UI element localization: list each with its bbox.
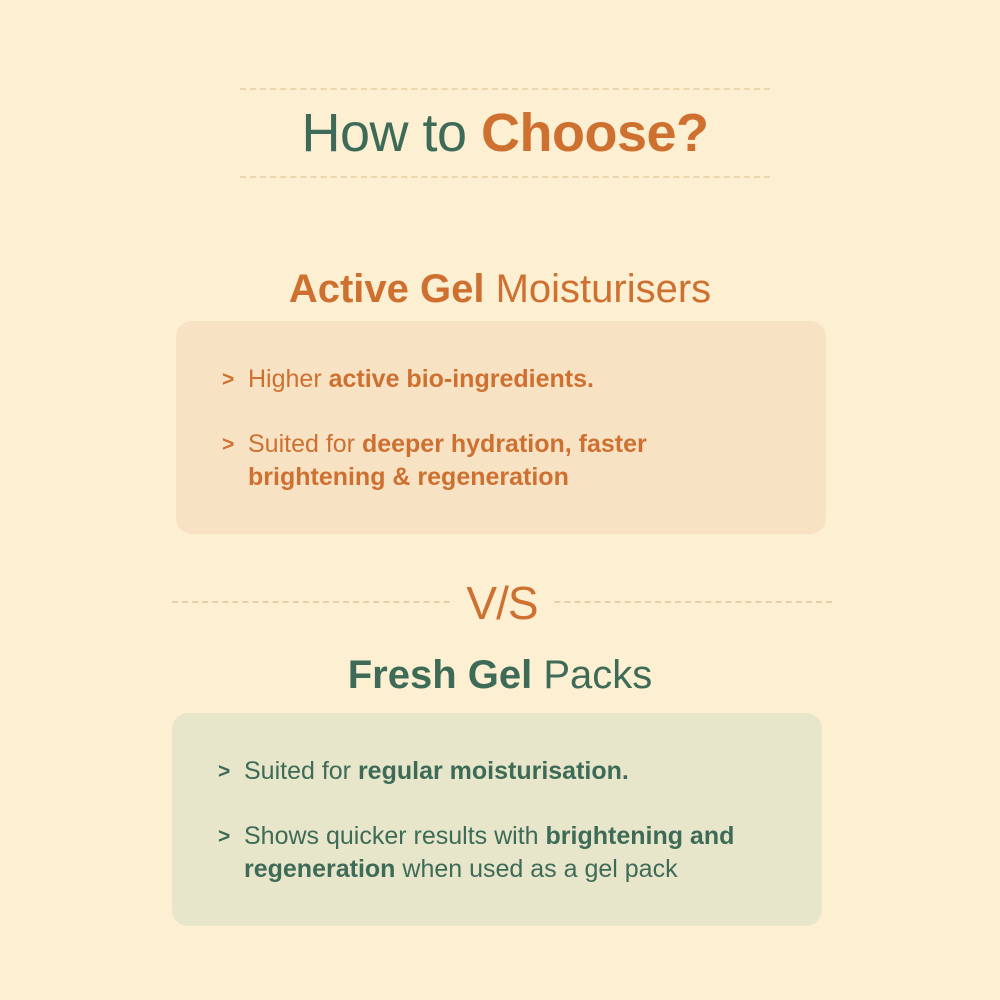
list-item-text-bold: active bio-ingredients. [329, 365, 594, 393]
header-block: How to Choose? [240, 88, 770, 178]
header-rule-bottom [240, 176, 770, 178]
chevron-right-icon: > [218, 755, 244, 788]
list-item-text-light: Suited for [244, 757, 358, 785]
page-title-part-2: Choose? [481, 103, 709, 163]
versus-divider: V/S [172, 575, 832, 631]
section-heading-active-gel-bold: Active Gel [289, 267, 485, 311]
section-heading-fresh-gel-light: Packs [532, 653, 652, 697]
infographic-page: How to Choose? Active Gel Moisturisers >… [0, 0, 1000, 1000]
list-item: > Suited for deeper hydration, faster br… [222, 428, 780, 494]
list-item-text-bold: regular moisturisation. [358, 757, 629, 785]
versus-divider-label: V/S [452, 575, 551, 631]
list-item: > Higher active bio-ingredients. [222, 363, 780, 396]
list-item-text: Shows quicker results with brightening a… [244, 820, 776, 886]
list-item-text-trailing: when used as a gel pack [395, 855, 677, 883]
section-heading-fresh-gel-bold: Fresh Gel [348, 653, 533, 697]
list-item-text-light: Suited for [248, 430, 362, 458]
page-title-part-1: How to [301, 103, 481, 163]
list-item-text-light: Higher [248, 365, 329, 393]
list-item: > Suited for regular moisturisation. [218, 755, 776, 788]
fresh-gel-card: > Suited for regular moisturisation. > S… [172, 713, 822, 926]
section-heading-fresh-gel: Fresh Gel Packs [0, 652, 1000, 698]
active-gel-card: > Higher active bio-ingredients. > Suite… [176, 321, 826, 534]
chevron-right-icon: > [222, 428, 248, 461]
page-title: How to Choose? [240, 90, 770, 176]
list-item-text: Suited for deeper hydration, faster brig… [248, 428, 780, 494]
list-item: > Shows quicker results with brightening… [218, 820, 776, 886]
chevron-right-icon: > [222, 363, 248, 396]
section-heading-active-gel: Active Gel Moisturisers [0, 266, 1000, 312]
list-item-text-light: Shows quicker results with [244, 822, 546, 850]
chevron-right-icon: > [218, 820, 244, 853]
list-item-text: Higher active bio-ingredients. [248, 363, 780, 396]
section-heading-active-gel-light: Moisturisers [484, 267, 711, 311]
list-item-text: Suited for regular moisturisation. [244, 755, 776, 788]
